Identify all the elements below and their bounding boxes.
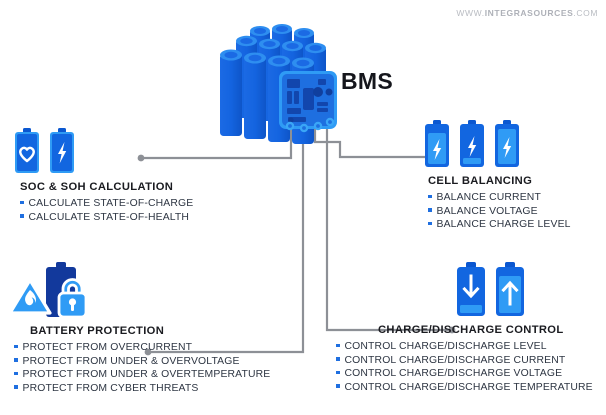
protection-heading: BATTERY PROTECTION <box>30 325 270 337</box>
list-item: PROTECT FROM UNDER & OVERTEMPERATURE <box>14 368 270 382</box>
list-item: BALANCE VOLTAGE <box>428 205 571 219</box>
bullet-text: PROTECT FROM OVERCURRENT <box>23 341 193 355</box>
diagram-canvas: WWW.INTEGRASOURCES.COM <box>0 0 606 415</box>
list-item: CONTROL CHARGE/DISCHARGE TEMPERATURE <box>336 381 593 395</box>
battery-arrow-up-icon <box>495 262 525 317</box>
bullet-square-icon <box>336 357 340 361</box>
list-item: PROTECT FROM CYBER THREATS <box>14 382 270 396</box>
bullet-square-icon <box>20 214 24 218</box>
cell-bullet-list: BALANCE CURRENT BALANCE VOLTAGE BALANCE … <box>428 191 571 232</box>
list-item: CALCULATE STATE-OF-CHARGE <box>20 197 193 211</box>
bullet-square-icon <box>336 344 340 348</box>
bullet-text: CALCULATE STATE-OF-CHARGE <box>29 197 194 211</box>
soc-icons <box>14 128 193 174</box>
warning-flame-icon <box>10 280 50 313</box>
charge-heading: CHARGE/DISCHARGE CONTROL <box>378 324 593 336</box>
block-battery-protection: BATTERY PROTECTION PROTECT FROM OVERCURR… <box>8 262 270 395</box>
block-cell-balancing: CELL BALANCING BALANCE CURRENT BALANCE V… <box>424 120 571 232</box>
cell-heading: CELL BALANCING <box>428 175 571 187</box>
bullet-text: BALANCE CHARGE LEVEL <box>437 218 571 232</box>
protection-icon-group <box>8 262 118 320</box>
block-charge-discharge: CHARGE/DISCHARGE CONTROL CONTROL CHARGE/… <box>330 262 593 394</box>
battery-bolt-icon <box>494 120 520 168</box>
battery-arrow-down-icon <box>456 262 486 317</box>
bullet-text: BALANCE VOLTAGE <box>437 205 538 219</box>
list-item: PROTECT FROM UNDER & OVERVOLTAGE <box>14 355 270 369</box>
bullet-square-icon <box>14 358 18 362</box>
protection-icons <box>8 262 270 325</box>
bullet-text: CONTROL CHARGE/DISCHARGE CURRENT <box>345 354 566 368</box>
list-item: CONTROL CHARGE/DISCHARGE VOLTAGE <box>336 367 593 381</box>
bullet-square-icon <box>336 371 340 375</box>
list-item: CONTROL CHARGE/DISCHARGE LEVEL <box>336 340 593 354</box>
charge-icons <box>456 262 593 317</box>
list-item: PROTECT FROM OVERCURRENT <box>14 341 270 355</box>
padlock-icon <box>59 280 86 318</box>
protection-bullet-list: PROTECT FROM OVERCURRENT PROTECT FROM UN… <box>14 341 270 395</box>
battery-bolt-icon <box>424 120 450 168</box>
bullet-square-icon <box>428 195 432 199</box>
bullet-text: PROTECT FROM CYBER THREATS <box>23 382 199 396</box>
battery-bolt-icon <box>49 128 75 174</box>
bullet-square-icon <box>14 385 18 389</box>
charge-bullet-list: CONTROL CHARGE/DISCHARGE LEVEL CONTROL C… <box>336 340 593 394</box>
bullet-square-icon <box>14 345 18 349</box>
list-item: CALCULATE STATE-OF-HEALTH <box>20 211 193 225</box>
soc-bullet-list: CALCULATE STATE-OF-CHARGE CALCULATE STAT… <box>20 197 193 224</box>
bullet-text: CONTROL CHARGE/DISCHARGE TEMPERATURE <box>345 381 593 395</box>
bullet-text: CONTROL CHARGE/DISCHARGE VOLTAGE <box>345 367 563 381</box>
battery-heart-icon <box>14 128 40 174</box>
list-item: BALANCE CHARGE LEVEL <box>428 218 571 232</box>
soc-heading: SOC & SOH CALCULATION <box>20 181 193 193</box>
bullet-text: CALCULATE STATE-OF-HEALTH <box>29 211 190 225</box>
list-item: BALANCE CURRENT <box>428 191 571 205</box>
bullet-square-icon <box>20 201 24 205</box>
bullet-text: BALANCE CURRENT <box>437 191 541 205</box>
battery-pack-graphic <box>198 16 348 146</box>
bullet-square-icon <box>428 208 432 212</box>
bullet-square-icon <box>14 372 18 376</box>
bms-label: BMS <box>341 68 393 95</box>
bullet-square-icon <box>336 384 340 388</box>
battery-bolt-icon <box>459 120 485 168</box>
bullet-text: PROTECT FROM UNDER & OVERVOLTAGE <box>23 355 240 369</box>
bms-pcb-icon <box>279 71 337 132</box>
list-item: CONTROL CHARGE/DISCHARGE CURRENT <box>336 354 593 368</box>
bullet-text: PROTECT FROM UNDER & OVERTEMPERATURE <box>23 368 271 382</box>
cell-icons <box>424 120 571 168</box>
bullet-square-icon <box>428 222 432 226</box>
block-soc-soh: SOC & SOH CALCULATION CALCULATE STATE-OF… <box>14 128 193 224</box>
bullet-text: CONTROL CHARGE/DISCHARGE LEVEL <box>345 340 547 354</box>
